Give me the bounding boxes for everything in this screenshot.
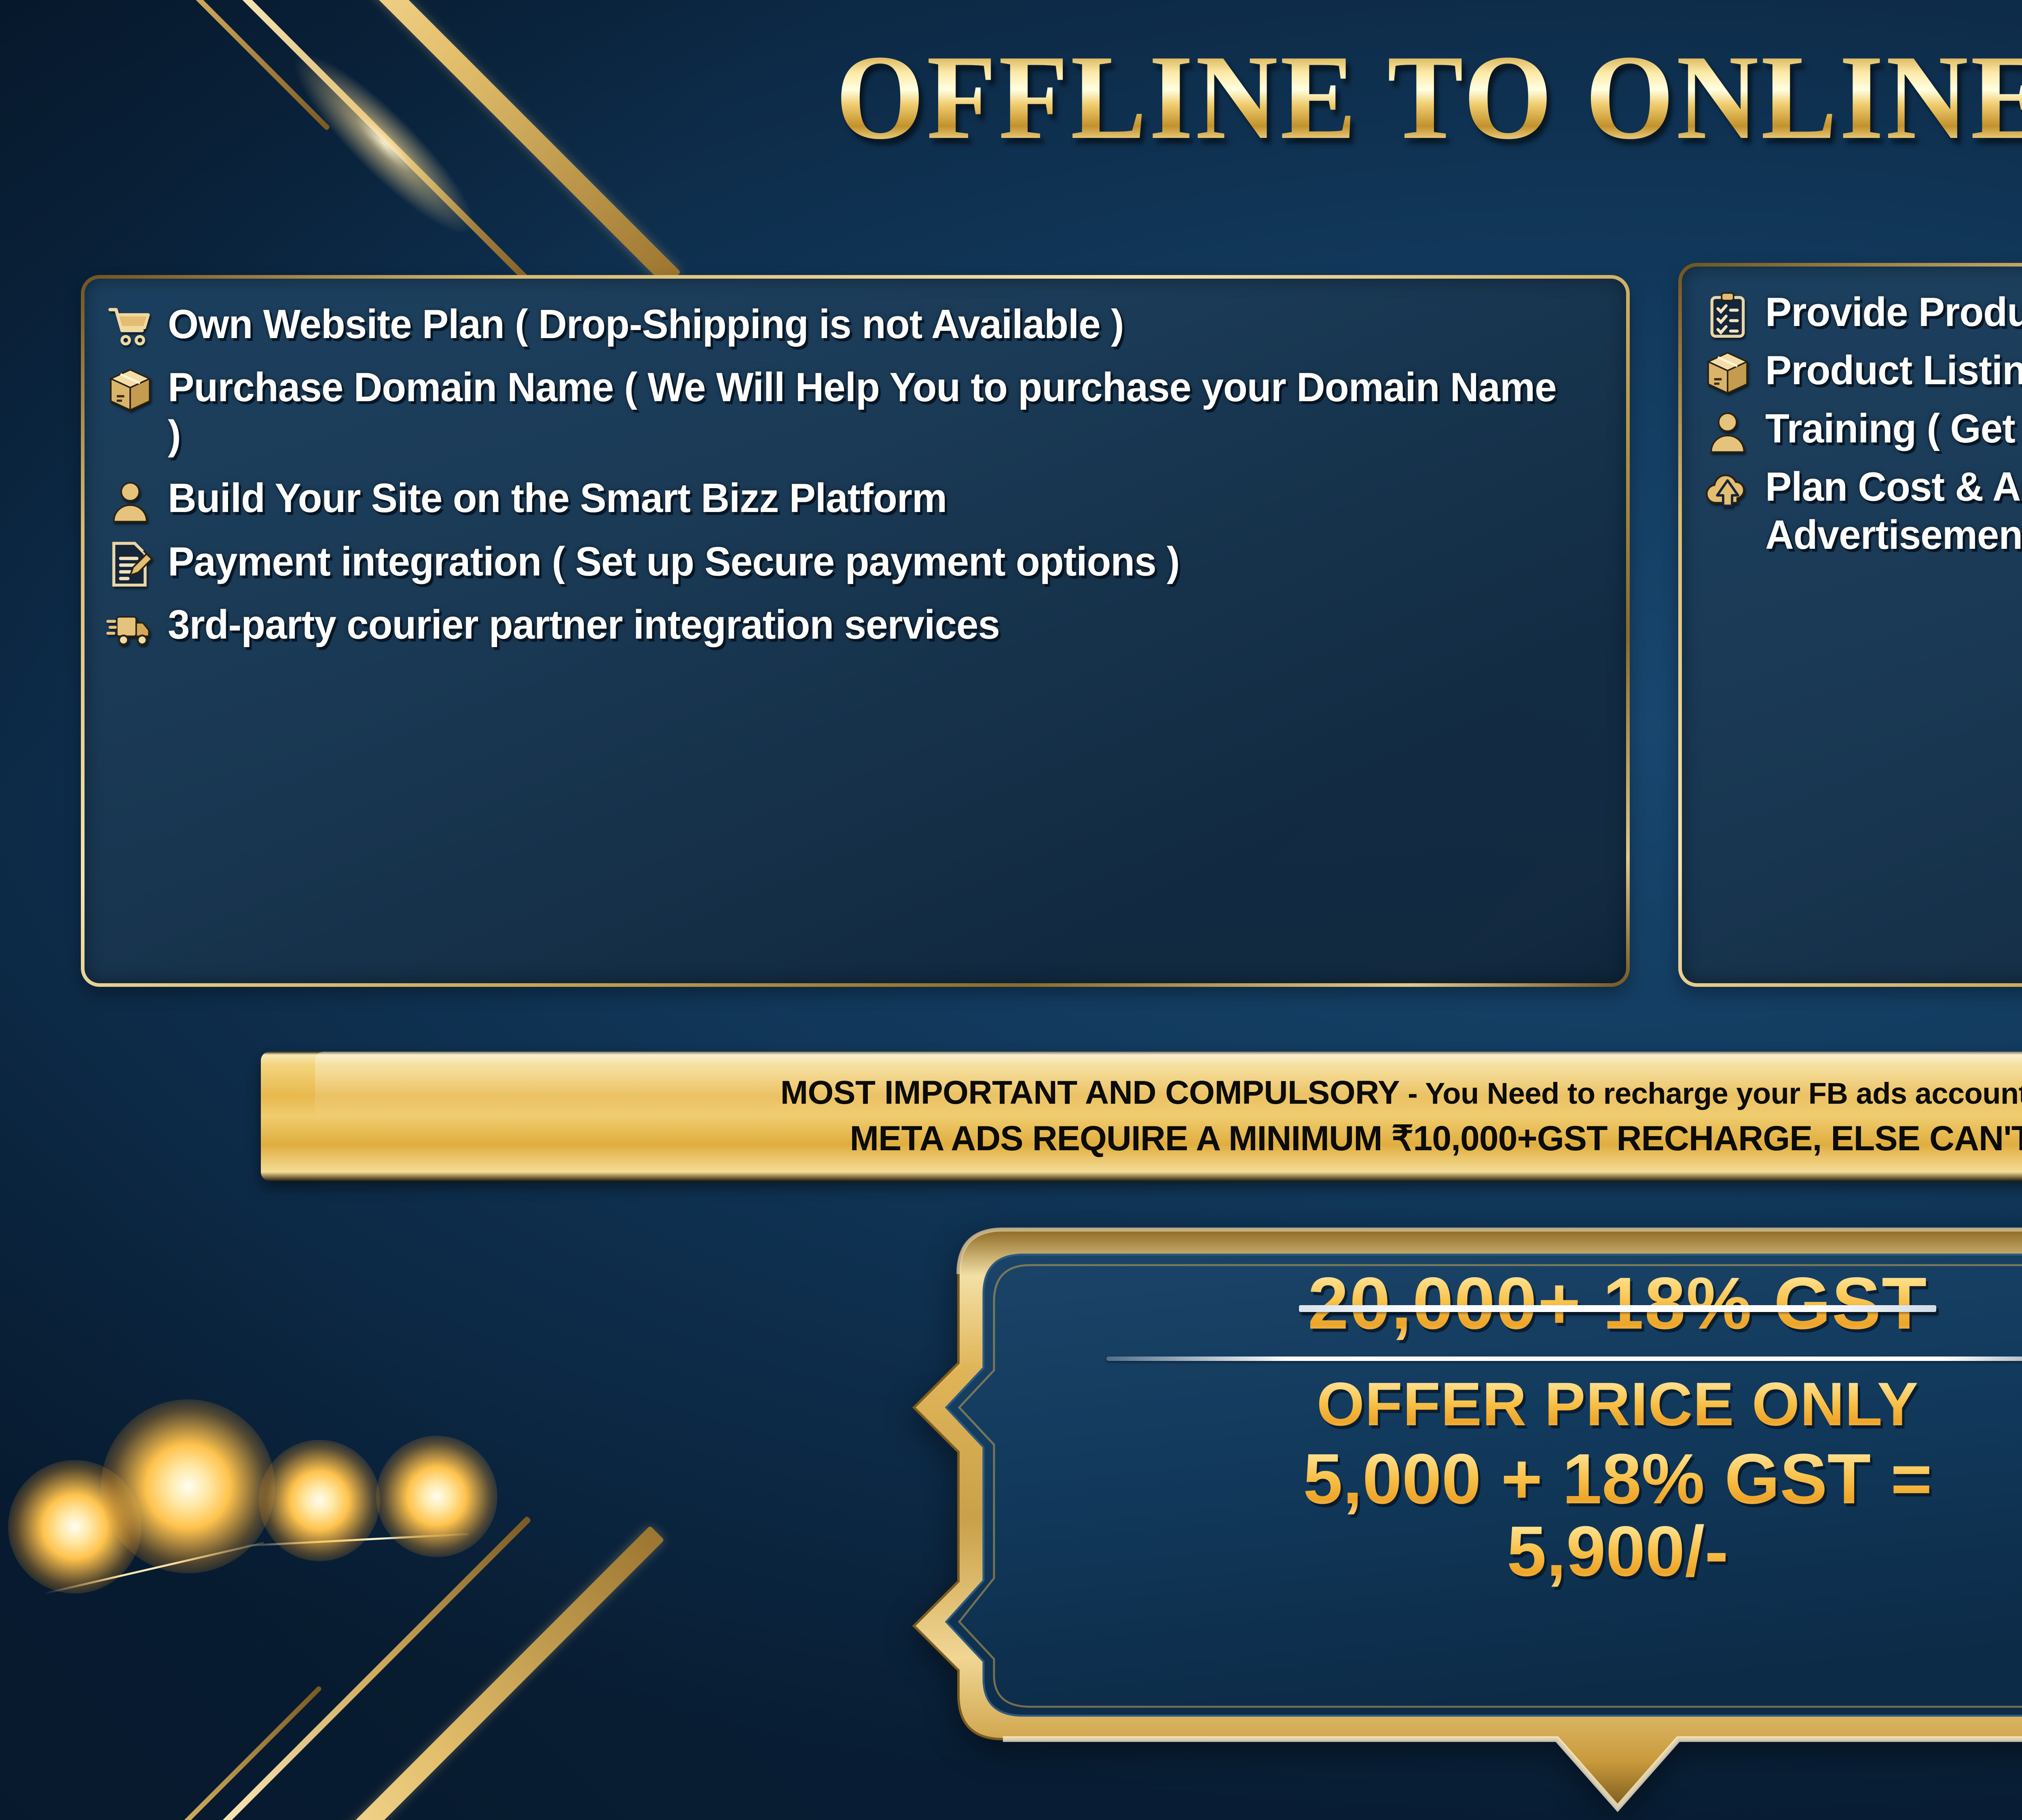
notice-line-1: MOST IMPORTANT AND COMPULSORY - You Need… (780, 1074, 2022, 1112)
offer-label: OFFER PRICE ONLY (1023, 1373, 2022, 1436)
list-item-label: Own Website Plan ( Drop-Shipping is not … (168, 301, 1124, 348)
light-orb (101, 1399, 275, 1573)
list-item-label: Plan Cost & Ads ( 5,000+ tax ( Plan Fee … (1765, 463, 2022, 559)
poster-title-wrap: OFFLINE TO ONLINE PLAN (0, 36, 2022, 158)
offer-total: 5,900/- (1023, 1515, 2022, 1588)
list-item-label: Payment integration ( Set up Secure paym… (168, 538, 1180, 586)
notice-line-1-rest: - You Need to recharge your FB ads accou… (1400, 1077, 2022, 1110)
list-item: Plan Cost & Ads ( 5,000+ tax ( Plan Fee … (1704, 463, 2022, 559)
badge-content: 20,000+ 18% GST OFFER PRICE ONLY 5,000 +… (1023, 1266, 2022, 1588)
list-item: Payment integration ( Set up Secure paym… (106, 538, 1607, 586)
list-item-label: Training ( Get training for adding more … (1765, 405, 2022, 453)
original-price: 20,000+ 18% GST (1308, 1266, 1927, 1341)
light-string-decoration (0, 1213, 687, 1820)
compulsory-notice-banner: MOST IMPORTANT AND COMPULSORY - You Need… (261, 1052, 2022, 1181)
features-panel-right: Provide Product Info ( Client provides p… (1678, 263, 2022, 987)
notice-line-2: META ADS REQUIRE A MINIMUM ₹10,000+GST R… (850, 1118, 2022, 1159)
features-panel-left: Own Website Plan ( Drop-Shipping is not … (81, 275, 1630, 987)
list-item: Product Listing ( We will List 20 produc… (1704, 347, 2022, 394)
light-orb (8, 1460, 142, 1594)
list-item: Own Website Plan ( Drop-Shipping is not … (106, 301, 1607, 348)
list-item-label: Build Your Site on the Smart Bizz Platfo… (168, 474, 947, 522)
list-item-label: 3rd-party courier partner integration se… (168, 601, 1000, 649)
list-item: Provide Product Info ( Client provides p… (1704, 288, 2022, 336)
package-box-icon (1704, 349, 1751, 397)
package-box-icon (106, 366, 154, 414)
offer-price: 5,000 + 18% GST = (1023, 1443, 2022, 1516)
light-orb (376, 1436, 497, 1557)
cloud-upload-icon (1704, 466, 1751, 513)
light-orb (259, 1440, 380, 1561)
list-item-label: Provide Product Info ( Client provides p… (1765, 288, 2022, 336)
price-badge: 20,000+ 18% GST OFFER PRICE ONLY 5,000 +… (902, 1217, 2022, 1820)
list-item: Purchase Domain Name ( We Will Help You … (106, 364, 1607, 459)
delivery-truck-icon (106, 603, 154, 651)
user-person-icon (106, 477, 154, 525)
user-person-icon (1704, 407, 1751, 455)
shopping-cart-icon (106, 303, 154, 351)
strikethrough-line (1299, 1305, 1936, 1312)
list-item: Training ( Get training for adding more … (1704, 405, 2022, 453)
original-price-text: 20,000+ 18% GST (1308, 1262, 1927, 1344)
list-item-label: Purchase Domain Name ( We Will Help You … (168, 364, 1564, 459)
list-item: Build Your Site on the Smart Bizz Platfo… (106, 474, 1607, 522)
clipboard-checklist-icon (1704, 291, 1751, 339)
notice-line-1-strong: MOST IMPORTANT AND COMPULSORY (780, 1074, 1400, 1111)
poster-title: OFFLINE TO ONLINE PLAN (836, 36, 2022, 158)
badge-divider (1106, 1357, 2022, 1361)
document-pencil-icon (106, 540, 154, 588)
list-item: 3rd-party courier partner integration se… (106, 601, 1607, 649)
promotional-poster: OFFLINE TO ONLINE PLAN Own Website Plan … (0, 0, 2022, 1820)
list-item-label: Product Listing ( We will List 20 produc… (1765, 347, 2022, 394)
